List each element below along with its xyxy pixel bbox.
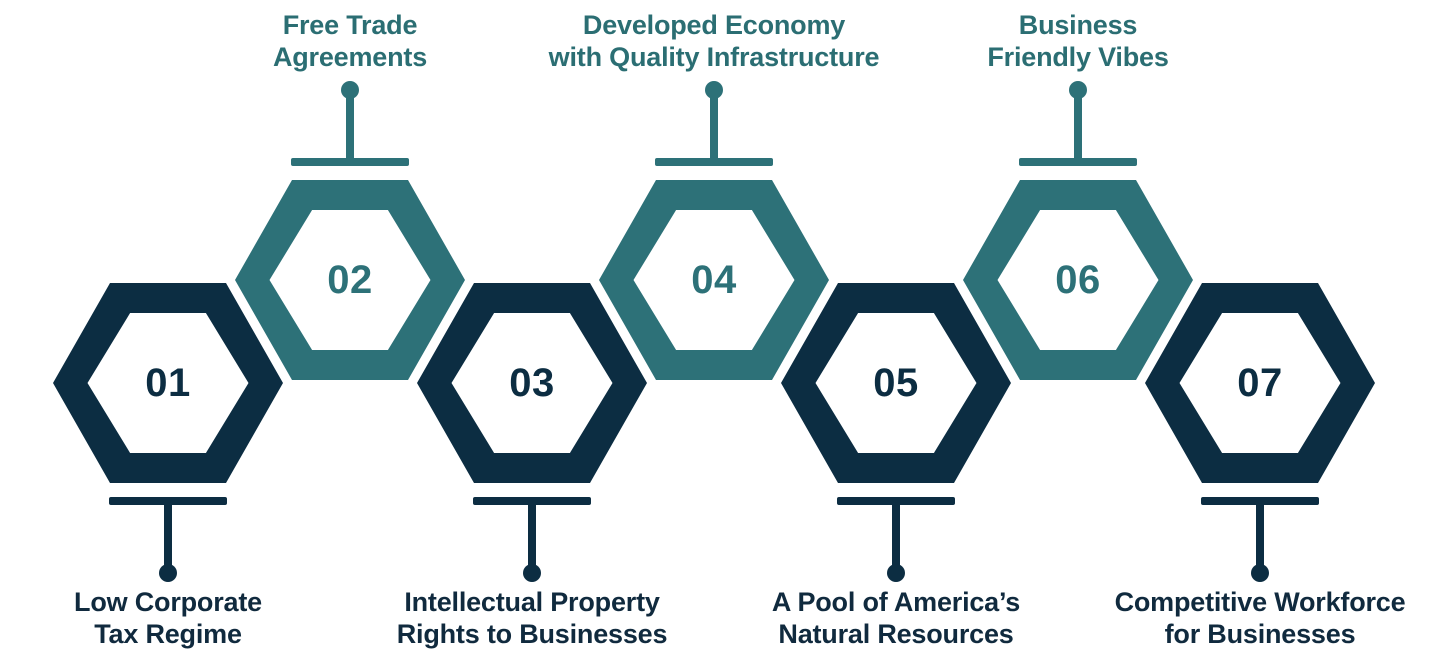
connector-dot [1251, 564, 1269, 582]
step-label-line: Friendly Vibes [818, 42, 1338, 74]
step-label-07: Competitive Workforcefor Businesses [1000, 587, 1440, 651]
step-label-line: Competitive Workforce [1000, 587, 1440, 619]
connector-dot [341, 81, 359, 99]
connector-dot [1069, 81, 1087, 99]
connector-step-06 [1019, 81, 1137, 166]
connector-dot [705, 81, 723, 99]
connector-dot [887, 564, 905, 582]
connector-stem [528, 501, 536, 573]
connector-stem [892, 501, 900, 573]
connector-stem [346, 90, 354, 162]
step-label-06: BusinessFriendly Vibes [818, 10, 1338, 74]
connector-dot [523, 564, 541, 582]
connector-stem [710, 90, 718, 162]
hexagon-number-02: 02 [327, 258, 373, 302]
hexagon-number-05: 05 [873, 361, 919, 405]
connector-step-04 [655, 81, 773, 166]
hexagons-layer: 01020304050607 [47, 175, 1381, 488]
connector-stem [1256, 501, 1264, 573]
infographic-root: 01020304050607 Low CorporateTax RegimeFr… [0, 0, 1440, 666]
connector-stem [164, 501, 172, 573]
connector-step-05 [837, 497, 955, 582]
hexagon-number-07: 07 [1237, 361, 1283, 405]
hexagon-number-03: 03 [509, 361, 555, 405]
connector-step-03 [473, 497, 591, 582]
step-label-line: Business [818, 10, 1338, 42]
hexagon-number-01: 01 [145, 361, 191, 405]
connector-step-02 [291, 81, 409, 166]
connector-stem [1074, 90, 1082, 162]
step-label-line: for Businesses [1000, 619, 1440, 651]
hexagon-chain-diagram: 01020304050607 [0, 0, 1440, 666]
connector-dot [159, 564, 177, 582]
hexagon-number-04: 04 [691, 258, 737, 302]
connector-step-07 [1201, 497, 1319, 582]
hexagon-number-06: 06 [1055, 258, 1101, 302]
connector-step-01 [109, 497, 227, 582]
